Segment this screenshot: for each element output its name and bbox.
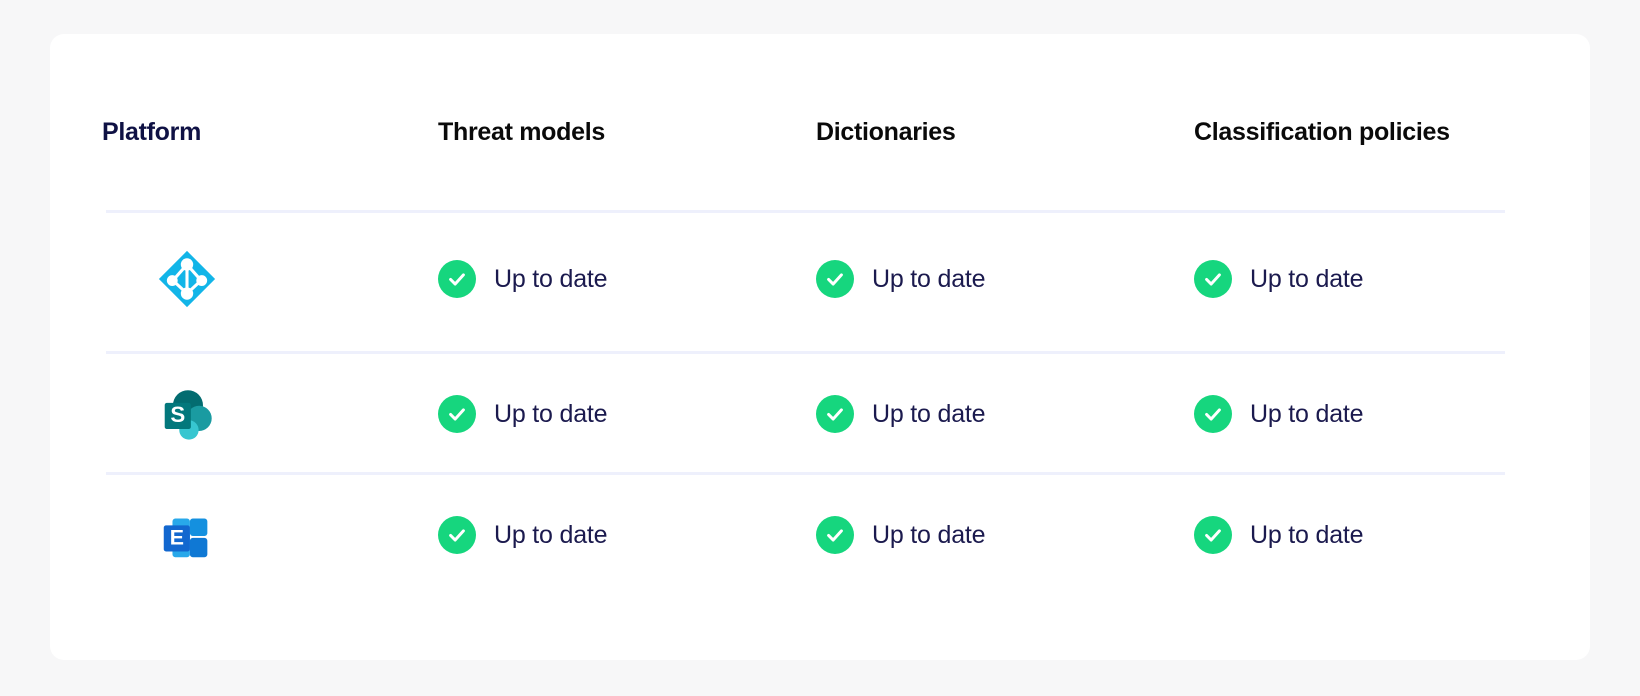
status-label: Up to date [494,521,607,550]
status-cell-dictionaries: Up to date [778,516,1156,554]
column-header-threat-models-label: Threat models [438,118,605,146]
check-circle-icon [1194,516,1232,554]
table-row: S Up to date [50,354,1590,474]
svg-text:E: E [170,526,184,550]
column-header-threat-models: Threat models [400,118,778,147]
page-root: Platform Threat models Dictionaries Clas… [0,0,1640,696]
status-cell-threat-models: Up to date [400,395,778,433]
azure-active-directory-icon [156,248,218,310]
column-header-classification-policies-label: Classification policies [1194,118,1450,146]
table-header-row: Platform Threat models Dictionaries Clas… [50,102,1590,162]
table-row: E Up to date [50,475,1590,595]
sharepoint-icon: S [156,383,218,445]
check-circle-icon [816,260,854,298]
status-cell-dictionaries: Up to date [778,395,1156,433]
status-label: Up to date [872,265,985,294]
status-label: Up to date [1250,400,1363,429]
table-header-divider [106,210,1505,213]
status-cell-classification-policies: Up to date [1156,516,1534,554]
column-header-platform-label: Platform [102,118,201,146]
platform-cell: E [50,504,400,566]
check-circle-icon [438,395,476,433]
status-label: Up to date [494,400,607,429]
status-cell-classification-policies: Up to date [1156,260,1534,298]
platform-cell: S [50,383,400,445]
column-header-dictionaries: Dictionaries [778,118,1156,147]
platform-status-card: Platform Threat models Dictionaries Clas… [50,34,1590,660]
status-cell-dictionaries: Up to date [778,260,1156,298]
exchange-icon: E [156,504,218,566]
column-header-platform: Platform [50,118,400,147]
check-circle-icon [1194,260,1232,298]
status-label: Up to date [872,521,985,550]
status-label: Up to date [1250,265,1363,294]
platform-status-table: Platform Threat models Dictionaries Clas… [50,34,1590,660]
column-header-dictionaries-label: Dictionaries [816,118,956,146]
check-circle-icon [816,516,854,554]
check-circle-icon [438,516,476,554]
column-header-classification-policies: Classification policies [1156,118,1534,147]
status-label: Up to date [872,400,985,429]
status-label: Up to date [1250,521,1363,550]
status-label: Up to date [494,265,607,294]
status-cell-threat-models: Up to date [400,260,778,298]
status-cell-classification-policies: Up to date [1156,395,1534,433]
table-row: Up to date Up to date [50,219,1590,339]
check-circle-icon [1194,395,1232,433]
check-circle-icon [438,260,476,298]
svg-text:S: S [170,402,185,427]
check-circle-icon [816,395,854,433]
status-cell-threat-models: Up to date [400,516,778,554]
platform-cell [50,248,400,310]
